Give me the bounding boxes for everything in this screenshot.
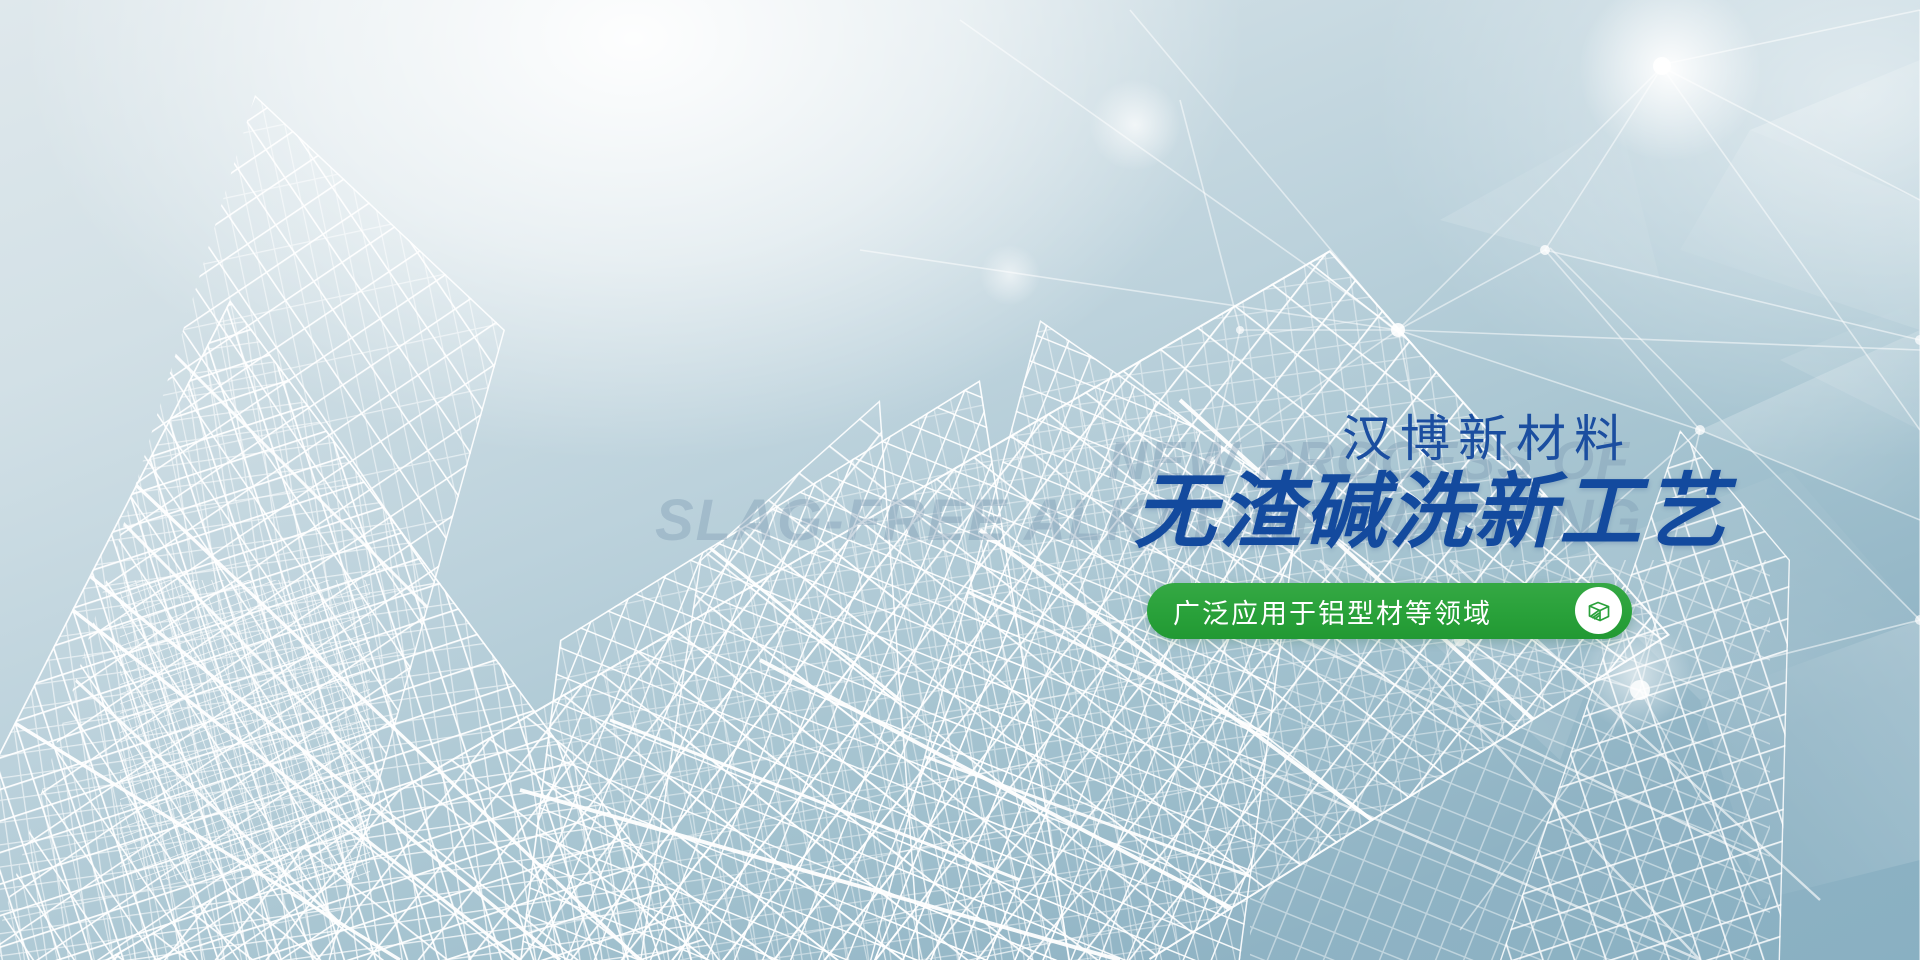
banner-copy: NEW PROCESS OF SLAG-FREE ALKALINE WASHIN… <box>0 0 1920 960</box>
wireframe-city-graphic <box>0 0 1920 960</box>
watermark-line-2: SLAG-FREE ALKALINE WASHING <box>655 492 1643 550</box>
glow-node-secondary <box>1090 80 1180 170</box>
headline-title: 无渣碱洗新工艺 <box>1134 472 1729 554</box>
glow-node-main <box>1580 0 1760 160</box>
watermark-line-1: NEW PROCESS OF <box>1108 434 1631 488</box>
cube-icon <box>1575 587 1622 634</box>
polygon-network-graphic <box>0 0 1920 960</box>
glow-node-tiny <box>980 245 1040 305</box>
brand-name: 汉博新材料 <box>1342 399 1632 471</box>
wireframe-building-left <box>0 280 820 960</box>
cta-pill-button[interactable]: 广泛应用于铝型材等领域 <box>1147 583 1632 639</box>
polygon-facets <box>1430 60 1920 900</box>
wireframe-building-right <box>1450 400 1850 960</box>
wireframe-building-top-left <box>0 60 640 960</box>
polygon-lines <box>860 10 1920 960</box>
cta-pill-label: 广泛应用于铝型材等领域 <box>1173 592 1492 631</box>
hero-banner: NEW PROCESS OF SLAG-FREE ALKALINE WASHIN… <box>0 0 1920 960</box>
wireframe-building-center-slim <box>620 380 950 960</box>
wireframe-building-center <box>480 340 1140 960</box>
